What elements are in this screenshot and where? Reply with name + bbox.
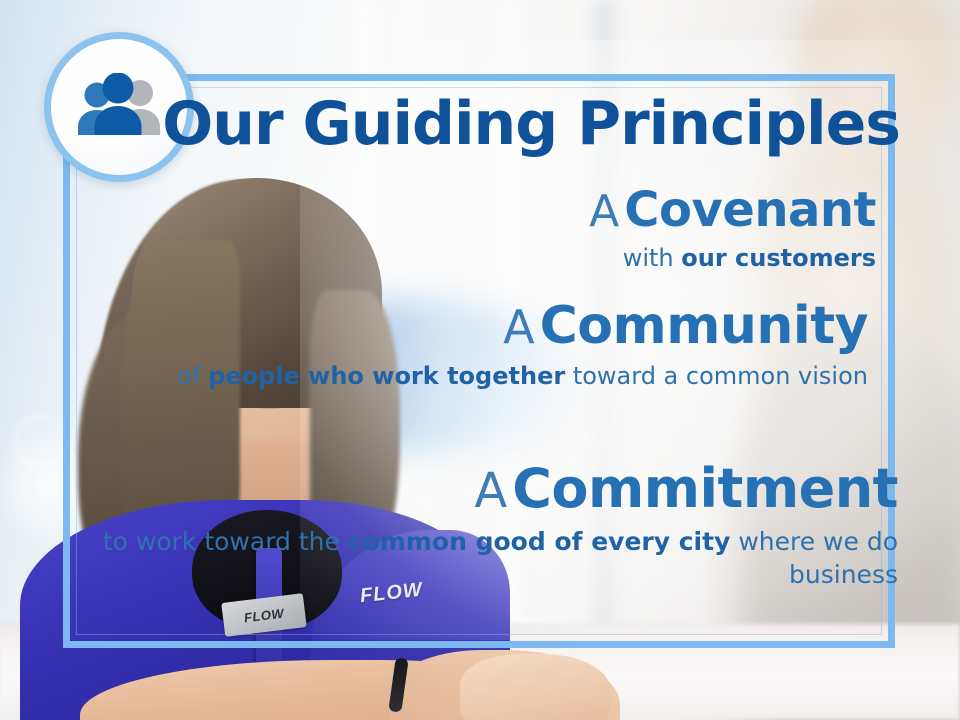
guiding-principles-banner: FLOW FLOW [0, 0, 960, 720]
principle-word: Community [540, 296, 868, 356]
principle-body-suffix: where we do business [730, 527, 898, 589]
principle-headline: A Covenant [589, 186, 876, 234]
principle-article: A [474, 463, 507, 519]
principle-article: A [589, 186, 619, 237]
principle-body-prefix: of [177, 362, 208, 390]
principle-word: Covenant [624, 182, 876, 238]
principle-body: of people who work together toward a com… [177, 361, 868, 392]
principle-body: with our customers [589, 243, 876, 274]
clasped-hands [460, 654, 610, 720]
principle-body-bold: our customers [681, 244, 876, 272]
page-title: Our Guiding Principles [0, 94, 900, 155]
principle-headline: A Community [177, 300, 868, 352]
principle-body-bold: people who work together [208, 362, 565, 390]
principle-commitment: A Commitment to work toward the common g… [0, 462, 898, 591]
principle-body-bold: common good of every city [348, 527, 731, 556]
principle-article: A [503, 300, 534, 354]
principle-headline: A Commitment [0, 462, 898, 516]
blurred-vw-emblem [14, 415, 66, 467]
principle-body-prefix: with [623, 244, 682, 272]
principle-body-prefix: to work toward the [103, 527, 348, 556]
principle-covenant: A Covenant with our customers [589, 186, 876, 274]
principle-body-suffix: toward a common vision [565, 362, 868, 390]
principle-community: A Community of people who work together … [177, 300, 868, 392]
principle-word: Commitment [512, 457, 898, 520]
principle-body: to work toward the common good of every … [0, 525, 898, 591]
